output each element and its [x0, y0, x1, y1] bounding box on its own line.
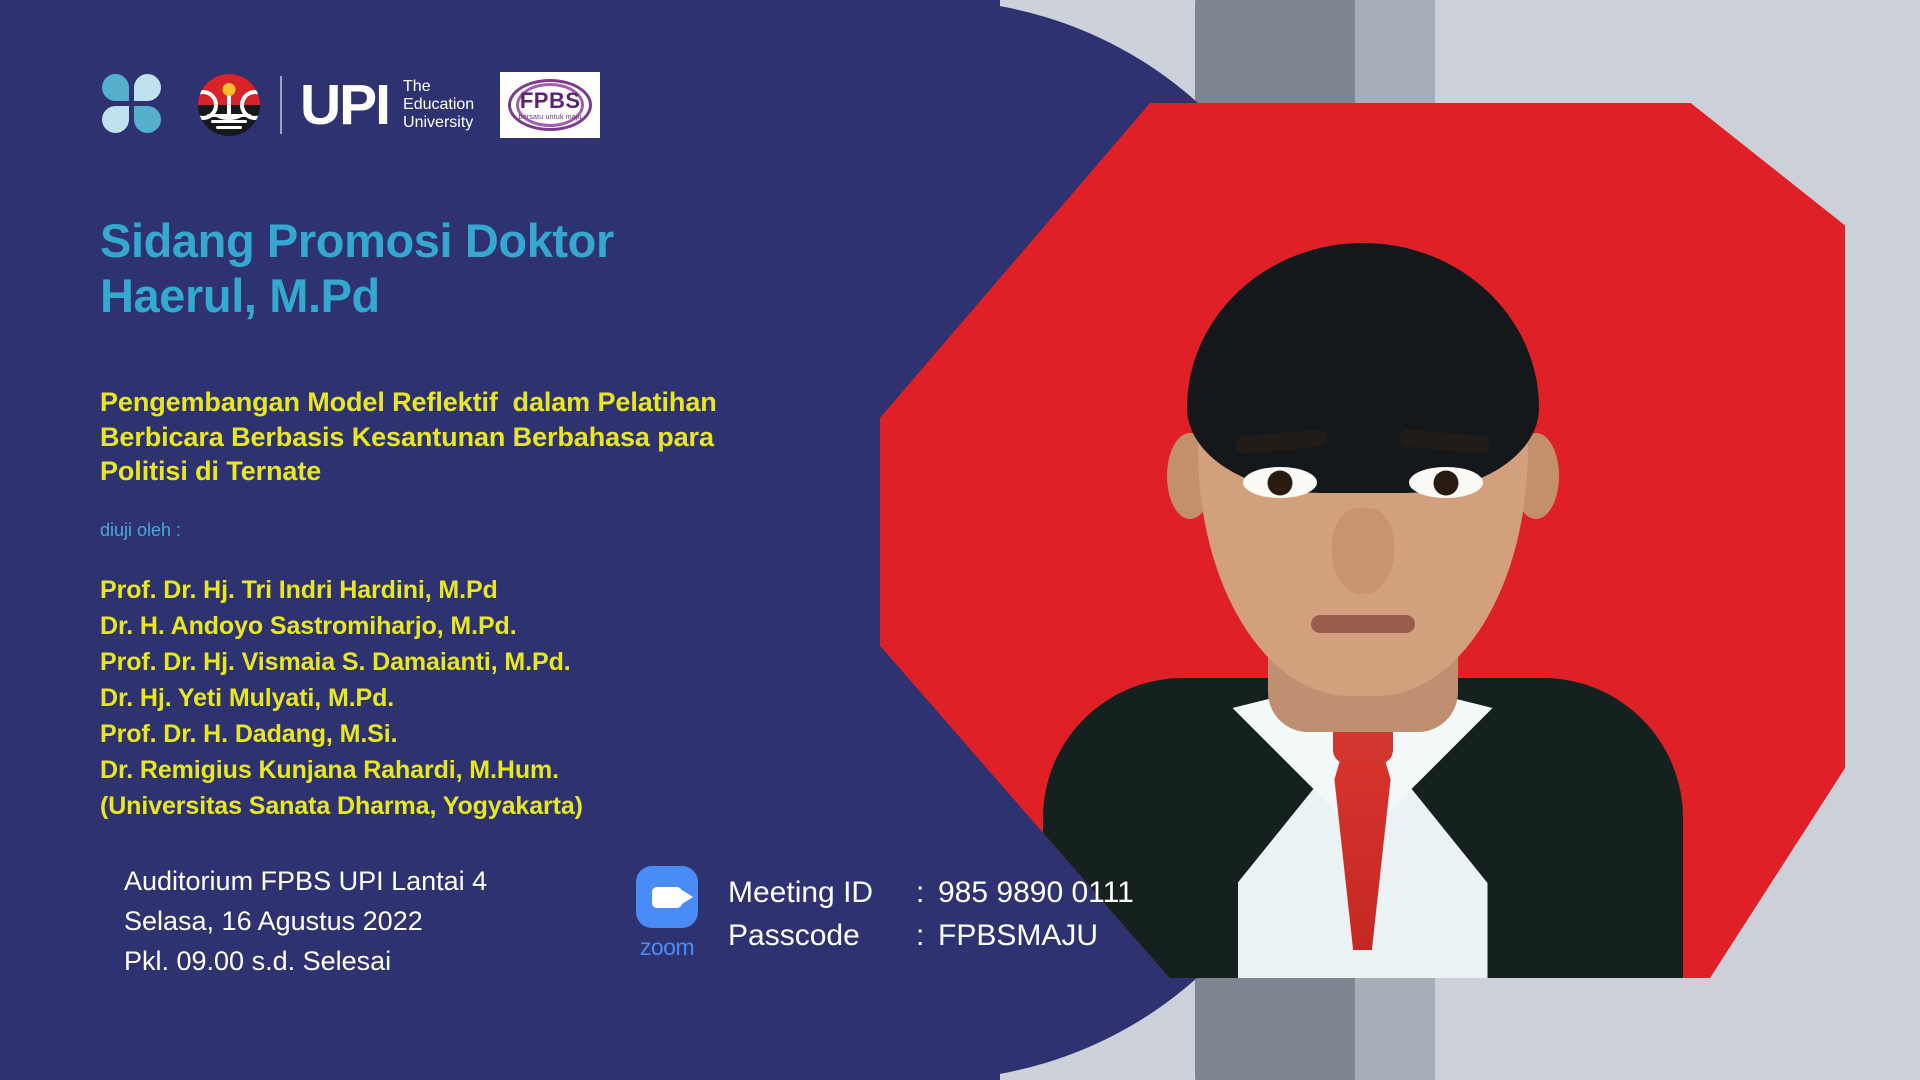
poster-canvas: UPI The Education University FPBS bersat… [0, 0, 1920, 1080]
passcode-value: FPBSMAJU [938, 915, 1098, 958]
seal-book-lines [207, 114, 251, 134]
dissertation-title: Pengembangan Model Reflektif dalam Pelat… [100, 385, 860, 489]
zoom-credentials: Meeting ID : 985 9890 0111 Passcode : FP… [728, 872, 1134, 957]
list-item: Dr. Hj. Yeti Mulyati, M.Pd. [100, 680, 860, 716]
petal-top-right-icon [134, 74, 161, 101]
upi-tagline-line1: The [403, 78, 474, 96]
petal-top-left-icon [102, 74, 129, 101]
list-item: (Universitas Sanata Dharma, Yogyakarta) [100, 788, 860, 824]
fpbs-logo-icon: FPBS bersatu untuk maju [500, 72, 600, 138]
meeting-id-label: Meeting ID [728, 872, 916, 915]
petal-bottom-right-icon [134, 106, 161, 133]
logo-divider [280, 76, 282, 134]
four-petal-logo-icon [102, 74, 164, 136]
portrait-nose [1332, 508, 1394, 594]
list-item: Dr. H. Andoyo Sastromiharjo, M.Pd. [100, 608, 860, 644]
page-title-line1: Sidang Promosi Doktor [100, 213, 860, 268]
examiners-list: Prof. Dr. Hj. Tri Indri Hardini, M.Pd Dr… [100, 572, 860, 824]
seal-flame-icon [223, 83, 236, 96]
logo-row: UPI The Education University FPBS bersat… [102, 68, 600, 142]
list-item: Prof. Dr. H. Dadang, M.Si. [100, 716, 860, 752]
zoom-logo: zoom [630, 866, 704, 961]
upi-tagline: The Education University [403, 78, 474, 132]
fpbs-logo-text: FPBS [520, 90, 581, 112]
upi-tagline-line3: University [403, 114, 474, 132]
petal-bottom-left-icon [102, 106, 129, 133]
passcode-label: Passcode [728, 915, 916, 958]
portrait-mouth [1311, 615, 1415, 633]
examiners-label: diuji oleh : [100, 520, 181, 541]
meeting-id-colon: : [916, 872, 938, 915]
portrait-hair [1187, 243, 1539, 493]
event-time: Pkl. 09.00 s.d. Selesai [124, 942, 487, 982]
event-location: Auditorium FPBS UPI Lantai 4 [124, 862, 487, 902]
meeting-id-value: 985 9890 0111 [938, 872, 1134, 915]
page-title-line2: Haerul, M.Pd [100, 268, 860, 323]
portrait-pupil-left [1267, 470, 1292, 495]
fpbs-logo-subtext: bersatu untuk maju [519, 114, 582, 121]
video-camera-icon [636, 866, 698, 928]
upi-tagline-line2: Education [403, 96, 474, 114]
camera-body-icon [652, 887, 682, 908]
list-item: Dr. Remigius Kunjana Rahardi, M.Hum. [100, 752, 860, 788]
upi-wordmark: UPI [300, 77, 389, 134]
event-details: Auditorium FPBS UPI Lantai 4 Selasa, 16 … [124, 862, 487, 982]
page-title: Sidang Promosi Doktor Haerul, M.Pd [100, 213, 860, 324]
zoom-wordmark: zoom [640, 934, 694, 961]
passcode-row: Passcode : FPBSMAJU [728, 915, 1134, 958]
portrait-pupil-right [1433, 470, 1458, 495]
upi-seal-icon [198, 74, 260, 136]
list-item: Prof. Dr. Hj. Vismaia S. Damaianti, M.Pd… [100, 644, 860, 680]
event-date: Selasa, 16 Agustus 2022 [124, 902, 487, 942]
meeting-id-row: Meeting ID : 985 9890 0111 [728, 872, 1134, 915]
portrait-eye-right [1409, 467, 1483, 498]
zoom-info-block: zoom Meeting ID : 985 9890 0111 Passcode… [630, 866, 1134, 961]
portrait-eye-left [1243, 467, 1317, 498]
list-item: Prof. Dr. Hj. Tri Indri Hardini, M.Pd [100, 572, 860, 608]
passcode-colon: : [916, 915, 938, 958]
